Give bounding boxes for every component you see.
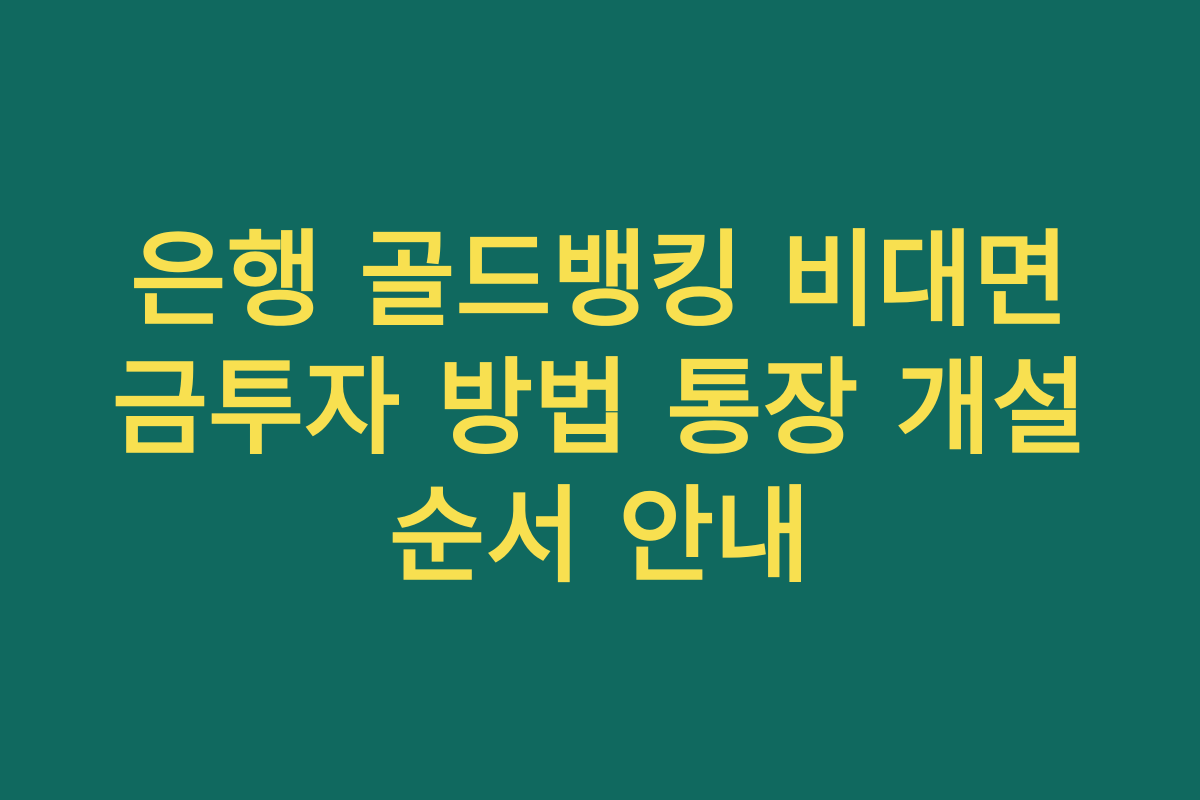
title-banner: 은행 골드뱅킹 비대면 금투자 방법 통장 개설 순서 안내 <box>0 0 1200 800</box>
banner-headline: 은행 골드뱅킹 비대면 금투자 방법 통장 개설 순서 안내 <box>78 216 1122 600</box>
headline-block: 은행 골드뱅킹 비대면 금투자 방법 통장 개설 순서 안내 <box>70 216 1130 600</box>
